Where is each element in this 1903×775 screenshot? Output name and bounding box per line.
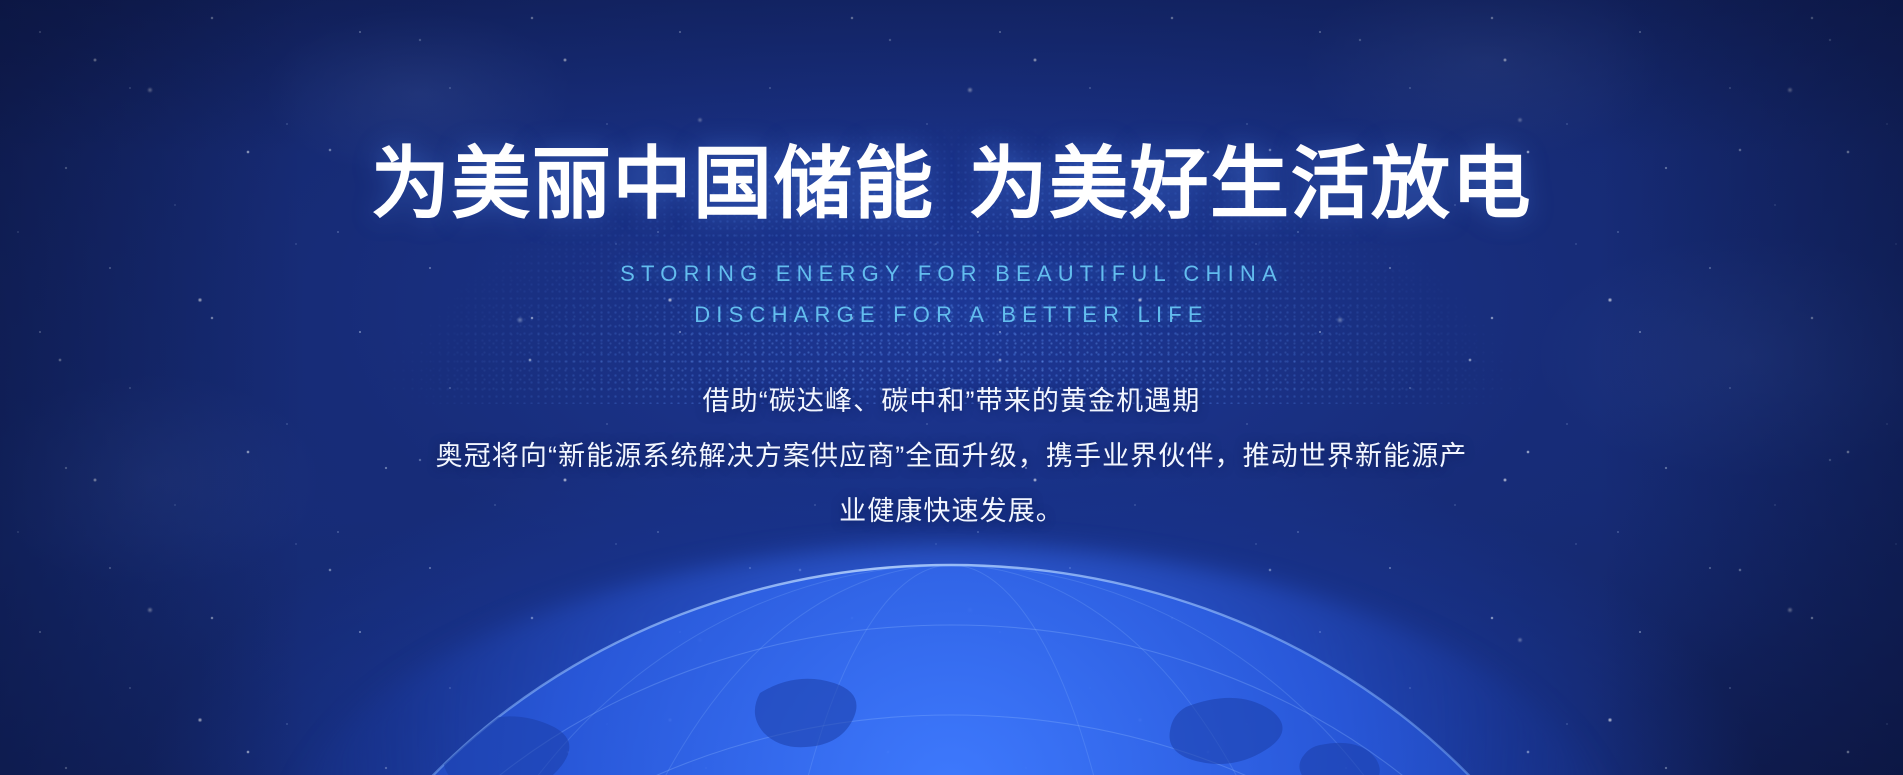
subtitle-line-2: DISCHARGE FOR A BETTER LIFE bbox=[620, 294, 1283, 335]
body-copy: 借助“碳达峰、碳中和”带来的黄金机遇期 奥冠将向“新能源系统解决方案供应商”全面… bbox=[436, 374, 1468, 539]
body-line-3: 业健康快速发展。 bbox=[436, 484, 1468, 539]
body-line-1: 借助“碳达峰、碳中和”带来的黄金机遇期 bbox=[436, 374, 1468, 429]
body-line-2: 奥冠将向“新能源系统解决方案供应商”全面升级，携手业界伙伴，推动世界新能源产 bbox=[436, 429, 1468, 484]
subtitle-line-1: STORING ENERGY FOR BEAUTIFUL CHINA bbox=[620, 253, 1283, 294]
headline-part-1: 为美丽中国储能 bbox=[371, 139, 935, 228]
headline-part-2: 为美好生活放电 bbox=[969, 139, 1533, 228]
hero-banner: 为美丽中国储能为美好生活放电 STORING ENERGY FOR BEAUTI… bbox=[0, 0, 1903, 775]
page-title: 为美丽中国储能为美好生活放电 bbox=[371, 144, 1532, 223]
banner-content: 为美丽中国储能为美好生活放电 STORING ENERGY FOR BEAUTI… bbox=[0, 0, 1903, 775]
subtitle-english: STORING ENERGY FOR BEAUTIFUL CHINA DISCH… bbox=[620, 253, 1283, 335]
